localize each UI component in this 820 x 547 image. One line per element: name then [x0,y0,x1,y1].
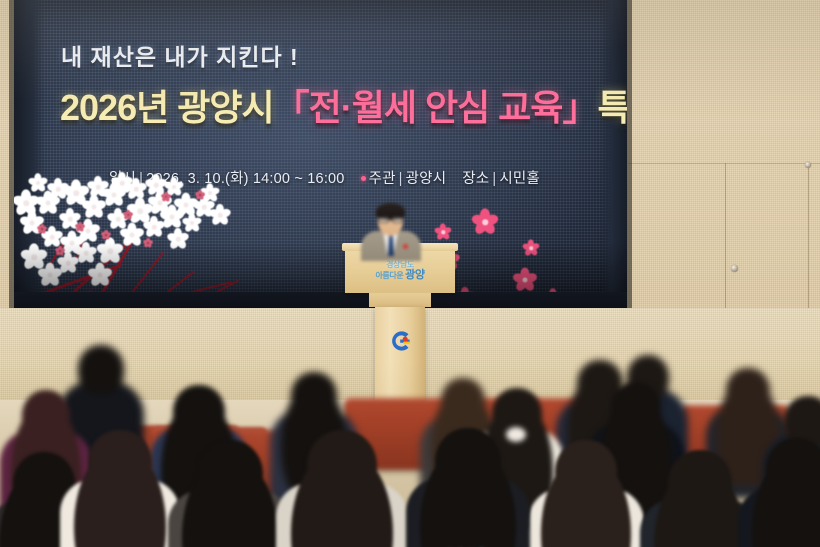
audience-head [611,382,661,436]
audience-head [307,430,377,504]
audience-member [60,430,180,547]
audience-member [276,430,408,547]
audience-member [738,438,820,547]
speaker-lapel-pin [403,244,408,249]
audience-head [78,345,124,395]
audience-head [435,428,501,498]
audience-head [766,438,820,504]
speaker-person [358,198,424,258]
screen-main-title: 2026년 광양시「전·월세 안심 교육」특강 [60,90,627,126]
title-prefix: 2026년 광양시 [60,87,274,128]
led-display-screen: 내 재산은 내가 지킨다 ! 2026년 광양시「전·월세 안심 교육」특강 일… [14,0,627,310]
door-latch-icon[interactable] [805,162,811,168]
auditorium-photo: 내 재산은 내가 지킨다 ! 2026년 광양시「전·월세 안심 교육」특강 일… [0,0,820,547]
podium-slogan-logo: 경상남도 아름다운 광양 [357,259,443,283]
gwangyang-emblem-icon [389,329,413,353]
podium-logo-line2: 아름다운 광양 [357,270,443,281]
info-host-label: 주관 [369,171,396,187]
podium-neck [369,293,431,307]
podium-logo-city: 광양 [405,269,424,281]
audience-head [173,385,225,441]
title-suffix: 특강 [597,87,627,128]
door-handle-icon[interactable] [731,265,738,272]
audience-head [668,450,732,518]
speaker-glasses-left-lens-icon [379,217,389,223]
white-plum-blossom-branch [14,170,264,310]
info-sep-2: | [399,171,403,187]
audience-head [555,440,617,506]
podium-logo-line2-prefix: 아름다운 [375,271,403,280]
info-bullet-dot-icon [361,176,366,181]
screen-tagline: 내 재산은 내가 지킨다 ! [61,38,299,72]
wall-seam-horizontal [628,163,820,164]
audience-head [88,430,152,498]
audience-member: YOUR [406,428,530,547]
audience-member [168,440,292,547]
audience-head [291,372,337,422]
speaker-glasses-right-lens-icon [392,217,402,223]
title-highlight: 전·월세 안심 교육 [309,87,563,128]
audience-head [197,440,263,510]
title-bracket-open: 「 [274,87,309,128]
title-bracket-close: 」 [562,87,597,128]
audience-member [528,440,644,547]
podium-column [375,307,425,407]
